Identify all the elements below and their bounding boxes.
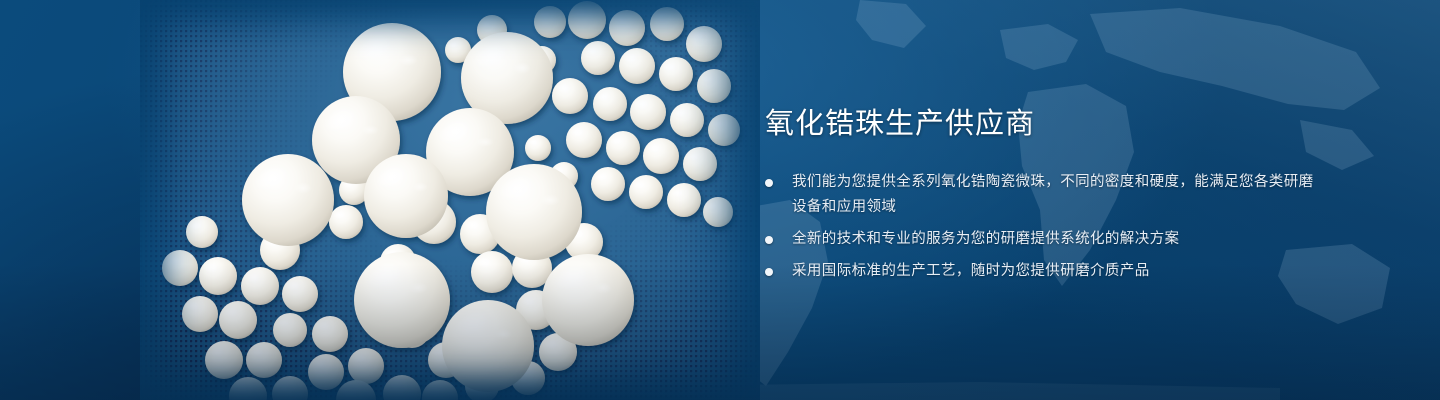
banner-copy: 氧化锆珠生产供应商 我们能为您提供全系列氧化锆陶瓷微珠，不同的密度和硬度，能满足… bbox=[765, 104, 1325, 284]
bullet-item: 采用国际标准的生产工艺，随时为您提供研磨介质产品 bbox=[765, 259, 1325, 284]
banner-headline: 氧化锆珠生产供应商 bbox=[765, 104, 1325, 144]
bullet-dot-icon bbox=[765, 179, 773, 187]
bullet-item: 我们能为您提供全系列氧化锆陶瓷微珠，不同的密度和硬度，能满足您各类研磨设备和应用… bbox=[765, 170, 1325, 220]
bullet-text: 全新的技术和专业的服务为您的研磨提供系统化的解决方案 bbox=[792, 227, 1325, 252]
bullet-dot-icon bbox=[765, 268, 773, 276]
zirconia-beads-photo bbox=[140, 0, 760, 400]
hero-banner: 氧化锆珠生产供应商 我们能为您提供全系列氧化锆陶瓷微珠，不同的密度和硬度，能满足… bbox=[0, 0, 1440, 400]
bullet-text: 我们能为您提供全系列氧化锆陶瓷微珠，不同的密度和硬度，能满足您各类研磨设备和应用… bbox=[792, 170, 1325, 220]
bullet-text: 采用国际标准的生产工艺，随时为您提供研磨介质产品 bbox=[792, 259, 1325, 284]
bullet-item: 全新的技术和专业的服务为您的研磨提供系统化的解决方案 bbox=[765, 227, 1325, 252]
bead-cluster bbox=[140, 0, 760, 400]
banner-bullet-list: 我们能为您提供全系列氧化锆陶瓷微珠，不同的密度和硬度，能满足您各类研磨设备和应用… bbox=[765, 170, 1325, 284]
bullet-dot-icon bbox=[765, 236, 773, 244]
